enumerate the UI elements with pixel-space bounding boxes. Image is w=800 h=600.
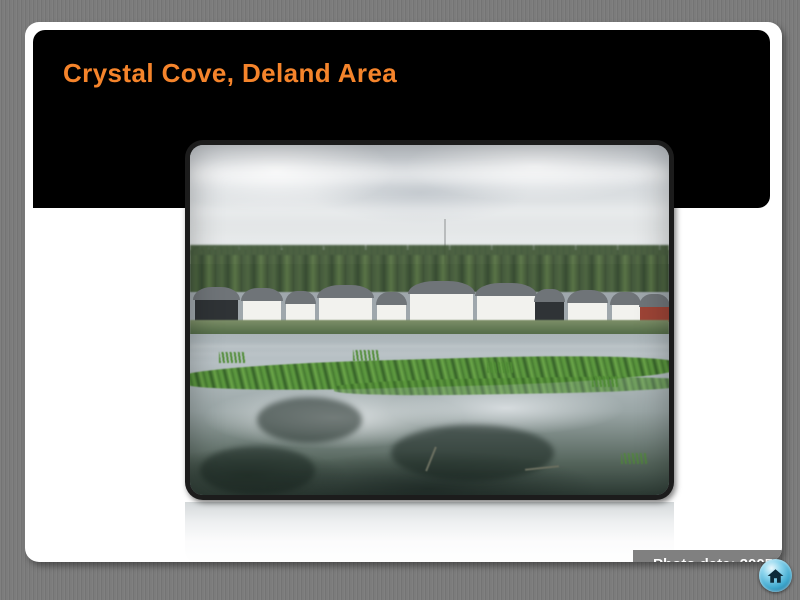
photo-submerged-debris (200, 446, 315, 495)
photo-grass-tuft (353, 350, 379, 361)
photo-house (612, 303, 641, 321)
photo-house (319, 296, 372, 321)
photo-submerged-debris (391, 425, 554, 481)
photo-house (410, 292, 472, 322)
slide-root: Crystal Cove, Deland Area (0, 0, 800, 600)
photo-cloud-band (190, 205, 669, 218)
flood-photograph (190, 145, 669, 495)
photo-house (243, 299, 281, 321)
photo-grass-tuft (592, 376, 618, 387)
slide-content-card: Crystal Cove, Deland Area (25, 22, 782, 562)
photo-water-streak (190, 352, 669, 355)
photo-house (195, 298, 238, 322)
page-title: Crystal Cove, Deland Area (63, 58, 397, 89)
photo-grass-tuft (621, 453, 647, 464)
photo-cloud-band (190, 166, 669, 182)
photo-house (477, 294, 534, 322)
photo-date-badge: Photo date: 2005 (633, 550, 782, 562)
photo-house (568, 301, 606, 322)
home-button[interactable] (759, 559, 792, 592)
photo-grass-tuft (487, 362, 513, 373)
home-icon (766, 567, 785, 585)
photo-submerged-debris (257, 397, 362, 443)
photo-house (286, 302, 315, 322)
photo-frame[interactable] (185, 140, 674, 500)
photo-house (535, 300, 564, 322)
photo-house-row (190, 283, 669, 322)
photo-water-streak (190, 345, 669, 348)
photo-house (377, 303, 406, 322)
photo-grass-tuft (219, 352, 245, 363)
photo-reflection (185, 502, 674, 562)
photo-date-label: Photo date: 2005 (653, 556, 773, 563)
